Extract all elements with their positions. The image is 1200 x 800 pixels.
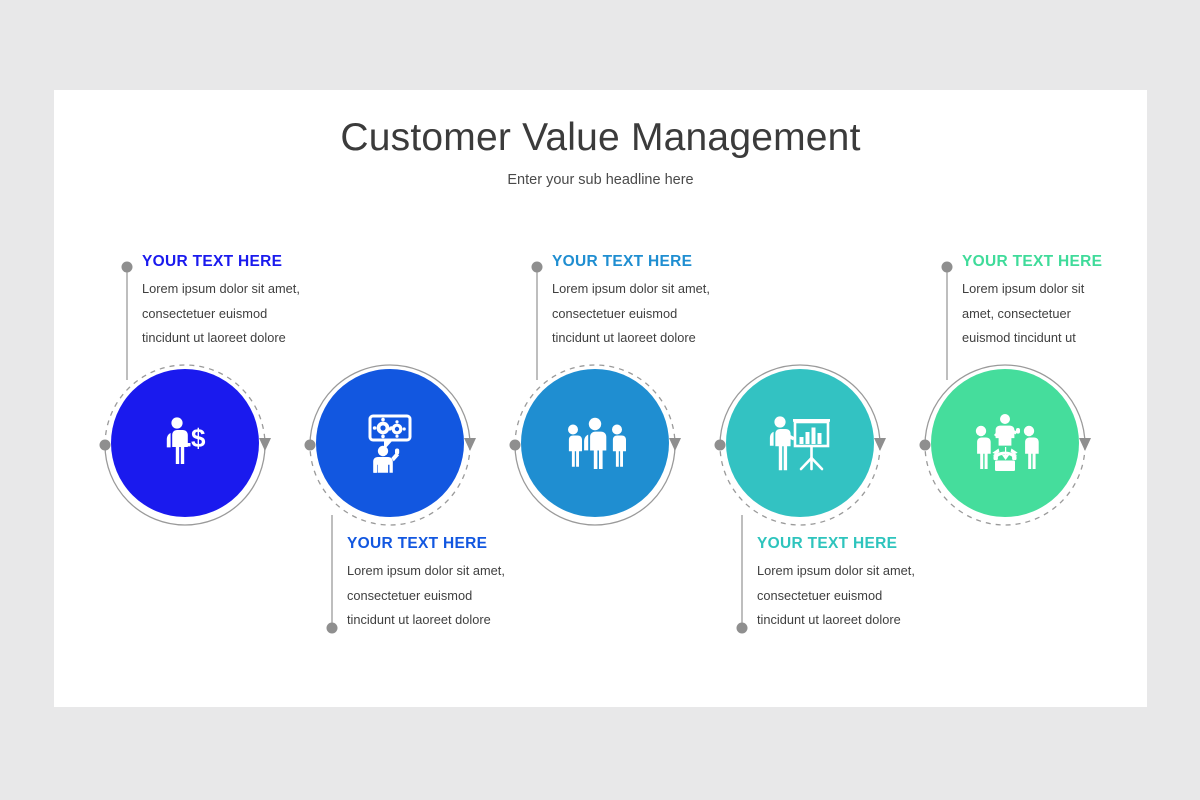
- connector-dot-1: [122, 262, 133, 273]
- ring-arrowhead-3: [669, 438, 681, 451]
- step-heading-2: YOUR TEXT HERE: [347, 535, 562, 553]
- step-text-block-4: YOUR TEXT HERE Lorem ipsum dolor sit ame…: [757, 535, 972, 633]
- connector-dot-3: [532, 262, 543, 273]
- three-people-icon: [561, 413, 629, 473]
- step-heading-3: YOUR TEXT HERE: [552, 253, 767, 271]
- connector-dot-5: [942, 262, 953, 273]
- ring-dot-2: [305, 440, 316, 451]
- step-text-block-5: YOUR TEXT HERE Lorem ipsum dolor sit ame…: [962, 253, 1120, 351]
- ring-dot-4: [715, 440, 726, 451]
- step-body-5: Lorem ipsum dolor sit amet, consectetuer…: [962, 277, 1120, 351]
- ring-arrowhead-2: [464, 438, 476, 451]
- step-text-block-2: YOUR TEXT HERE Lorem ipsum dolor sit ame…: [347, 535, 562, 633]
- ring-arrowhead-5: [1079, 438, 1091, 451]
- step-circle-3[interactable]: [521, 369, 669, 517]
- ring-arrowhead-4: [874, 438, 886, 451]
- infographic-stage: $: [54, 90, 1147, 707]
- step-text-block-3: YOUR TEXT HERE Lorem ipsum dolor sit ame…: [552, 253, 767, 351]
- ring-arrowhead-1: [259, 438, 271, 451]
- step-circle-1[interactable]: $: [111, 369, 259, 517]
- step-circle-5[interactable]: [931, 369, 1079, 517]
- step-body-3: Lorem ipsum dolor sit amet, consectetuer…: [552, 277, 767, 351]
- step-heading-4: YOUR TEXT HERE: [757, 535, 972, 553]
- step-circle-2[interactable]: [316, 369, 464, 517]
- step-text-block-1: YOUR TEXT HERE Lorem ipsum dolor sit ame…: [142, 253, 357, 351]
- svg-text:$: $: [191, 423, 206, 453]
- person-speech-gears-icon: [357, 410, 423, 476]
- slide-card: Customer Value Management Enter your sub…: [54, 90, 1147, 707]
- ring-dot-3: [510, 440, 521, 451]
- step-body-1: Lorem ipsum dolor sit amet, consectetuer…: [142, 277, 357, 351]
- businessman-dollar-icon: $: [153, 411, 217, 475]
- presenter-chart-icon: [765, 412, 835, 474]
- step-circle-4[interactable]: [726, 369, 874, 517]
- step-heading-5: YOUR TEXT HERE: [962, 253, 1120, 271]
- step-body-4: Lorem ipsum dolor sit amet, consectetuer…: [757, 559, 972, 633]
- step-body-2: Lorem ipsum dolor sit amet, consectetuer…: [347, 559, 562, 633]
- step-heading-1: YOUR TEXT HERE: [142, 253, 357, 271]
- ring-dot-5: [920, 440, 931, 451]
- team-telephone-icon: [970, 411, 1040, 475]
- ring-dot-1: [100, 440, 111, 451]
- connector-dot-4: [737, 623, 748, 634]
- connector-dot-2: [327, 623, 338, 634]
